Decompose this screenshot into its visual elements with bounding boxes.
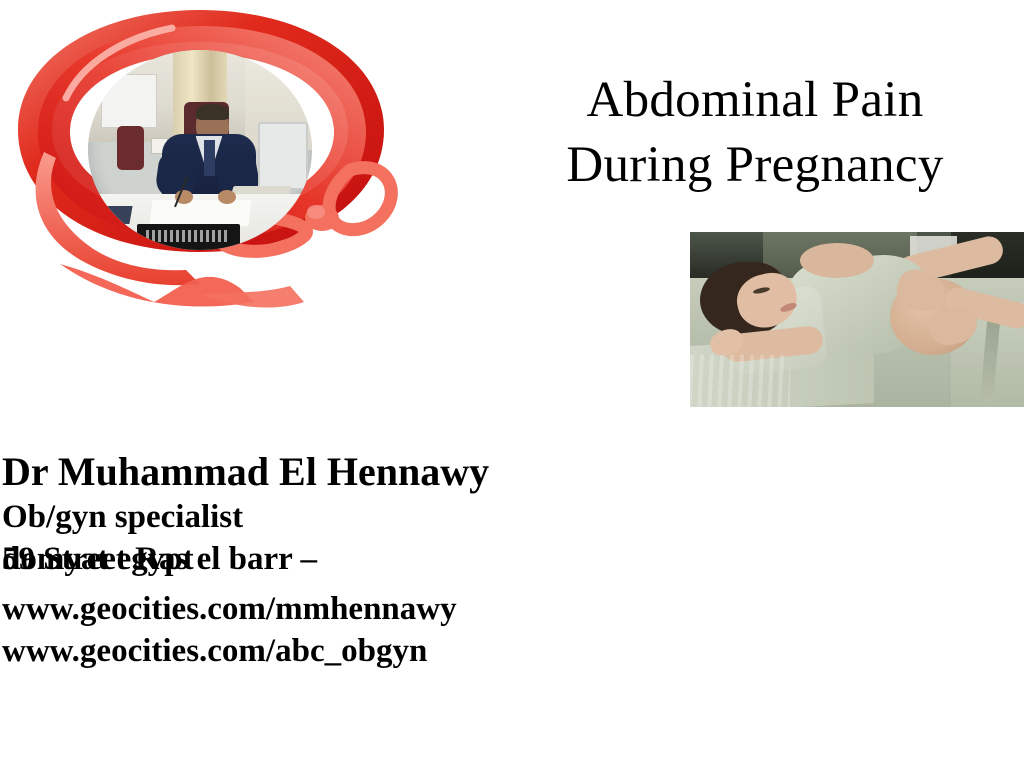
photo-doctor-right-hand xyxy=(218,190,236,204)
author-role: Ob/gyn specialist xyxy=(2,501,622,534)
photo-paper xyxy=(149,200,251,226)
photo-window xyxy=(101,74,157,128)
author-website-1[interactable]: www.geocities.com/mmhennawy xyxy=(2,593,622,626)
photo-doctor-tie xyxy=(204,140,214,176)
author-address-overlap: 59 Street Ras el barr – domyat egypt xyxy=(2,543,622,581)
author-contact-block: Dr Muhammad El Hennawy Ob/gyn specialist… xyxy=(2,452,622,668)
pregnant-woman-lying-photo xyxy=(690,232,1024,407)
photo-doctor-hair xyxy=(196,104,230,120)
photo-woman-shoulder xyxy=(800,243,873,278)
author-website-2[interactable]: www.geocities.com/abc_obgyn xyxy=(2,635,622,668)
photo-book xyxy=(93,206,132,224)
presentation-slide: Abdominal Pain During Pregnancy Dr Muham… xyxy=(0,0,1024,768)
photo-side-chair xyxy=(117,126,144,170)
slide-title-line-2: During Pregnancy xyxy=(505,133,1005,198)
slide-title: Abdominal Pain During Pregnancy xyxy=(505,68,1005,199)
author-address-city: domyat egypt xyxy=(2,543,194,576)
doctor-ribbon-logo xyxy=(4,2,400,322)
photo-nameplate-lettering xyxy=(146,230,227,242)
doctor-portrait-photo xyxy=(88,50,312,250)
author-name: Dr Muhammad El Hennawy xyxy=(2,452,622,492)
photo-mattress-texture xyxy=(690,355,790,408)
slide-title-line-1: Abdominal Pain xyxy=(505,68,1005,133)
photo-monitor xyxy=(258,122,307,190)
